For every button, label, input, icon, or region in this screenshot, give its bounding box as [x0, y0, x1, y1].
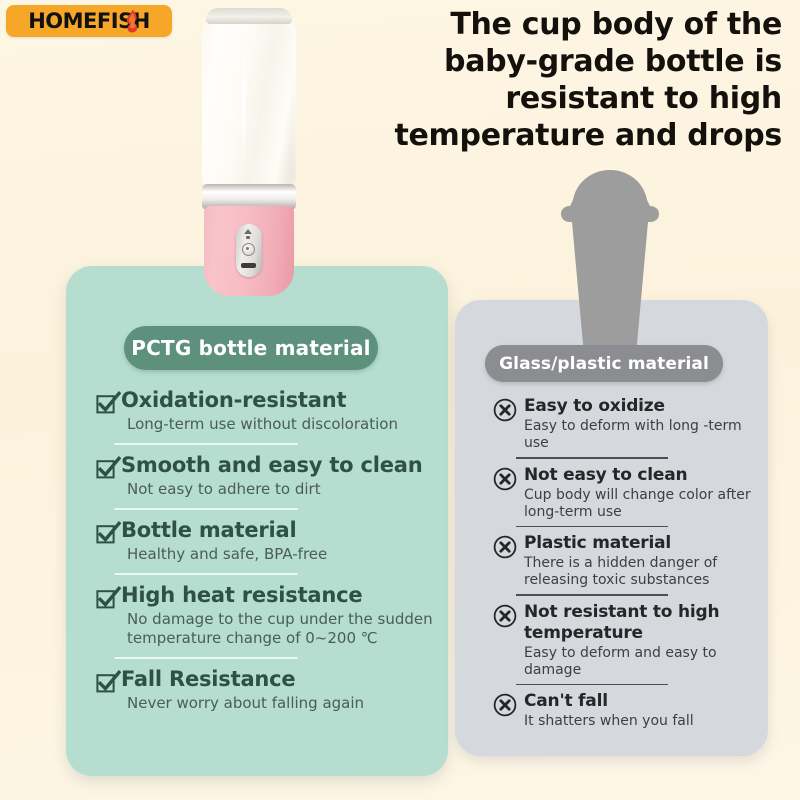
pctg-material-badge: PCTG bottle material — [124, 326, 378, 370]
list-item: Bottle material Healthy and safe, BPA-fr… — [96, 518, 440, 564]
list-item-body: Can't fall It shatters when you fall — [524, 691, 760, 730]
check-box-icon — [96, 456, 121, 480]
list-item-subtitle: Never worry about falling again — [121, 694, 440, 713]
gray-cup-silhouette-icon — [551, 168, 669, 360]
infographic-canvas: HOMEFISH The cup body of the baby-grade … — [0, 0, 800, 800]
blender-indicator-arrow-icon — [244, 229, 252, 234]
list-item: Can't fall It shatters when you fall — [492, 691, 760, 730]
x-circle-icon — [492, 535, 518, 559]
glass-plastic-feature-list: Easy to oxidize Easy to deform with long… — [492, 396, 760, 735]
divider — [114, 573, 298, 575]
list-item-body: Easy to oxidize Easy to deform with long… — [524, 396, 760, 452]
check-box-icon — [96, 586, 121, 610]
blender-cup — [202, 10, 296, 188]
glass-plastic-material-badge: Glass/plastic material — [485, 345, 723, 382]
list-item: Smooth and easy to clean Not easy to adh… — [96, 453, 440, 499]
x-circle-icon — [492, 398, 518, 422]
blender-cup-rim — [206, 8, 292, 24]
brand-logo: HOMEFISH — [6, 5, 172, 37]
list-item-body: Fall Resistance Never worry about fallin… — [121, 667, 440, 713]
list-item-body: High heat resistance No damage to the cu… — [121, 583, 440, 648]
list-item-title: High heat resistance — [121, 583, 362, 607]
list-item: Oxidation-resistant Long-term use withou… — [96, 388, 440, 434]
headline-line-4: temperature and drops — [362, 117, 782, 154]
divider — [114, 508, 298, 510]
divider — [114, 657, 298, 659]
glass-plastic-material-badge-label: Glass/plastic material — [499, 354, 709, 374]
list-item-body: Not resistant to high temperature Easy t… — [524, 602, 760, 679]
blender-cup-highlight — [242, 38, 246, 166]
list-item: Plastic material There is a hidden dange… — [492, 533, 760, 589]
divider — [114, 443, 298, 445]
headline-line-2: baby-grade bottle is — [362, 43, 782, 80]
list-item-subtitle: Cup body will change color after long-te… — [524, 487, 760, 521]
brand-logo-text: HOMEFISH — [6, 5, 172, 37]
list-item-title: Not easy to clean — [524, 465, 760, 486]
blender-indicator-dots-icon — [246, 236, 250, 239]
list-item-title: Oxidation-resistant — [121, 388, 346, 412]
list-item-title: Not resistant to high temperature — [524, 602, 760, 644]
list-item: Easy to oxidize Easy to deform with long… — [492, 396, 760, 452]
check-box-icon — [96, 391, 121, 415]
list-item: Fall Resistance Never worry about fallin… — [96, 667, 440, 713]
list-item-title: Bottle material — [121, 518, 297, 542]
list-item-body: Oxidation-resistant Long-term use withou… — [121, 388, 440, 434]
blender-indicator-bar-icon — [241, 263, 256, 268]
x-circle-icon — [492, 693, 518, 717]
list-item-body: Not easy to clean Cup body will change c… — [524, 465, 760, 521]
divider — [516, 526, 668, 528]
x-circle-icon — [492, 604, 518, 628]
headline-line-1: The cup body of the — [362, 6, 782, 43]
x-circle-icon — [492, 467, 518, 491]
divider — [516, 684, 668, 686]
pctg-feature-list: Oxidation-resistant Long-term use withou… — [96, 388, 440, 722]
divider — [516, 594, 668, 596]
headline: The cup body of the baby-grade bottle is… — [362, 6, 782, 154]
list-item-body: Bottle material Healthy and safe, BPA-fr… — [121, 518, 440, 564]
list-item-title: Smooth and easy to clean — [121, 453, 423, 477]
pctg-material-badge-label: PCTG bottle material — [131, 336, 370, 360]
list-item-body: Plastic material There is a hidden dange… — [524, 533, 760, 589]
list-item: Not resistant to high temperature Easy t… — [492, 602, 760, 679]
list-item-title: Easy to oxidize — [524, 396, 760, 417]
list-item-body: Smooth and easy to clean Not easy to adh… — [121, 453, 440, 499]
list-item: High heat resistance No damage to the cu… — [96, 583, 440, 648]
headline-line-3: resistant to high — [362, 80, 782, 117]
list-item-title: Plastic material — [524, 533, 760, 554]
list-item-title: Can't fall — [524, 691, 760, 712]
blender-power-button — [242, 243, 255, 256]
check-box-icon — [96, 521, 121, 545]
list-item-title: Fall Resistance — [121, 667, 295, 691]
divider — [516, 457, 668, 459]
list-item: Not easy to clean Cup body will change c… — [492, 465, 760, 521]
list-item-subtitle: Easy to deform and easy to damage — [524, 645, 760, 679]
list-item-subtitle: Long-term use without discoloration — [121, 415, 440, 434]
list-item-subtitle: No damage to the cup under the sudden te… — [121, 610, 440, 648]
list-item-subtitle: Healthy and safe, BPA-free — [121, 545, 440, 564]
check-box-icon — [96, 670, 121, 694]
list-item-subtitle: Easy to deform with long -term use — [524, 418, 760, 452]
flame-icon — [125, 9, 139, 33]
list-item-subtitle: It shatters when you fall — [524, 713, 760, 730]
portable-blender-product-image — [190, 2, 308, 298]
list-item-subtitle: Not easy to adhere to dirt — [121, 480, 440, 499]
list-item-subtitle: There is a hidden danger of releasing to… — [524, 555, 760, 589]
